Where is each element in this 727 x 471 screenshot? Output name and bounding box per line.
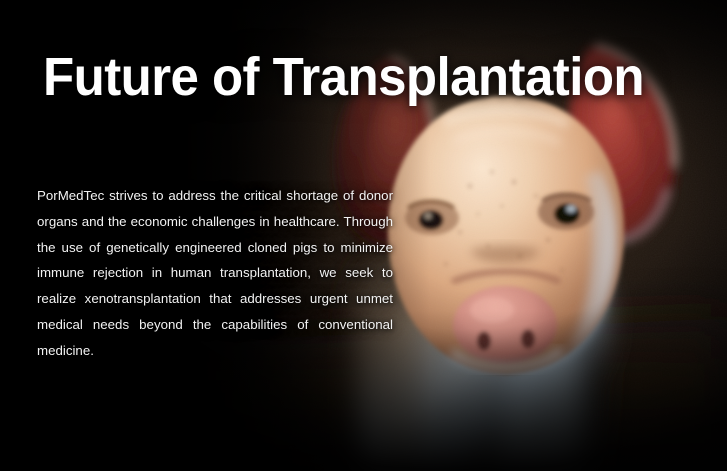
hero-description: PorMedTec strives to address the critica…	[37, 183, 393, 364]
page-title: Future of Transplantation	[43, 47, 644, 107]
hero-banner: Future of Transplantation PorMedTec stri…	[0, 0, 727, 471]
